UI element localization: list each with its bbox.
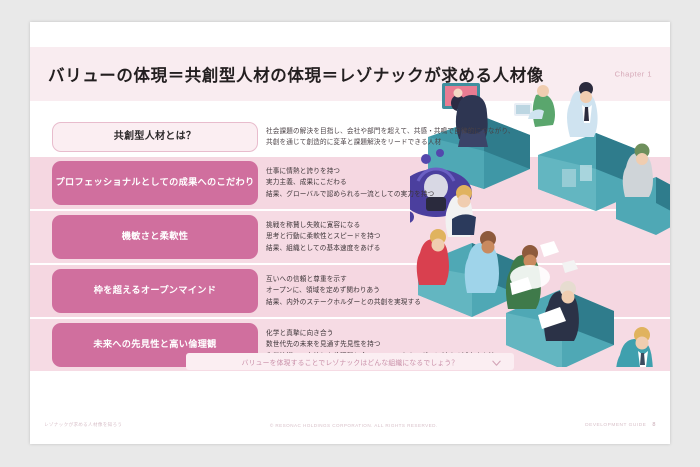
description-line: 結果、グローバルで認められる一流としての実力を持つ (266, 189, 670, 200)
description-line: 挑戦を称賛し失敗に寛容になる (266, 220, 670, 231)
pill-line-1: プロフェッショナルとしての (56, 176, 179, 189)
copyright-text: © RESONAC HOLDINGS CORPORATION. ALL RIGH… (122, 423, 585, 428)
description-line: 互いへの信頼と尊重を示す (266, 274, 670, 285)
description-line: 思考と行動に柔軟性とスピードを持つ (266, 231, 670, 242)
pill-cell: 機敏さと柔軟性 (30, 211, 258, 263)
pill-cell: 枠を超えるオープンマインド (30, 265, 258, 317)
description-line: 結果、内外のステークホルダーとの共創を実現する (266, 297, 670, 308)
description-line: 共創を通じて創造的に変革と課題解決をリードできる人材 (266, 137, 670, 148)
table-row: 枠を超えるオープンマインド 互いへの信頼と尊重を示す オープンに、領域を定めず関… (30, 265, 670, 317)
slide-footer: レゾナックが求める人材像を知ろう © RESONAC HOLDINGS CORP… (30, 422, 670, 428)
pill-cell: プロフェッショナルとしての 成果へのこだわり (30, 157, 258, 209)
table-row: プロフェッショナルとしての 成果へのこだわり 仕事に情熱と誇りを持つ 実力主義、… (30, 157, 670, 209)
value-pill-agility: 機敏さと柔軟性 (52, 215, 258, 259)
description-line: 結果、組織としての基本速度をあげる (266, 243, 670, 254)
table-row: 機敏さと柔軟性 挑戦を称賛し失敗に寛容になる 思考と行動に柔軟性とスピードを持つ… (30, 211, 670, 263)
page-number: 8 (652, 422, 656, 428)
matrix-header-row: 共創型人材とは？ 社会課題の解決を目指し、会社や部門を超えて、共感・共鳴で自律的… (30, 119, 670, 155)
description-line: 数世代先の未来を見通す先見性を持つ (266, 339, 670, 350)
prompt-text: バリューを体現することでレゾナックはどんな組織になるでしょう？ (242, 357, 459, 367)
slide-header: バリューの体現＝共創型人材の体現＝レゾナックが求める人材像 Chapter 1 (30, 47, 670, 101)
description-line: 仕事に情熱と誇りを持つ (266, 166, 670, 177)
value-description: 互いへの信頼と尊重を示す オープンに、領域を定めず関わりあう 結果、内外のステー… (258, 265, 670, 317)
chapter-label: Chapter 1 (615, 70, 652, 79)
values-matrix: 共創型人材とは？ 社会課題の解決を目指し、会社や部門を超えて、共感・共鳴で自律的… (30, 119, 670, 373)
question-prompt-bar[interactable]: バリューを体現することでレゾナックはどんな組織になるでしょう？ (186, 353, 514, 370)
value-pill-professional: プロフェッショナルとしての 成果へのこだわり (52, 161, 258, 205)
footer-guide-label: DEVELOPMENT GUIDE 8 (585, 422, 656, 428)
definition-description: 社会課題の解決を目指し、会社や部門を超えて、共感・共鳴で自律的につながり、 共創… (258, 119, 670, 155)
chevron-down-icon[interactable] (491, 357, 500, 366)
pill-cell: 共創型人材とは？ (30, 119, 258, 155)
definition-pill: 共創型人材とは？ (52, 122, 258, 152)
pill-line-2: 成果へのこだわり (179, 176, 255, 189)
guide-title: DEVELOPMENT GUIDE (585, 423, 646, 428)
page-title: バリューの体現＝共創型人材の体現＝レゾナックが求める人材像 (48, 62, 544, 86)
description-line: オープンに、領域を定めず関わりあう (266, 285, 670, 296)
value-description: 挑戦を称賛し失敗に寛容になる 思考と行動に柔軟性とスピードを持つ 結果、組織とし… (258, 211, 670, 263)
description-line: 化学と真摯に向き合う (266, 328, 670, 339)
value-pill-openmind: 枠を超えるオープンマインド (52, 269, 258, 313)
description-line: 実力主義、成果にこだわる (266, 177, 670, 188)
footer-section-label: レゾナックが求める人材像を知ろう (44, 422, 122, 428)
slide-canvas: バリューの体現＝共創型人材の体現＝レゾナックが求める人材像 Chapter 1 (30, 22, 670, 444)
description-line: 社会課題の解決を目指し、会社や部門を超えて、共感・共鳴で自律的につながり、 (266, 126, 670, 137)
value-description: 仕事に情熱と誇りを持つ 実力主義、成果にこだわる 結果、グローバルで認められる一… (258, 157, 670, 209)
